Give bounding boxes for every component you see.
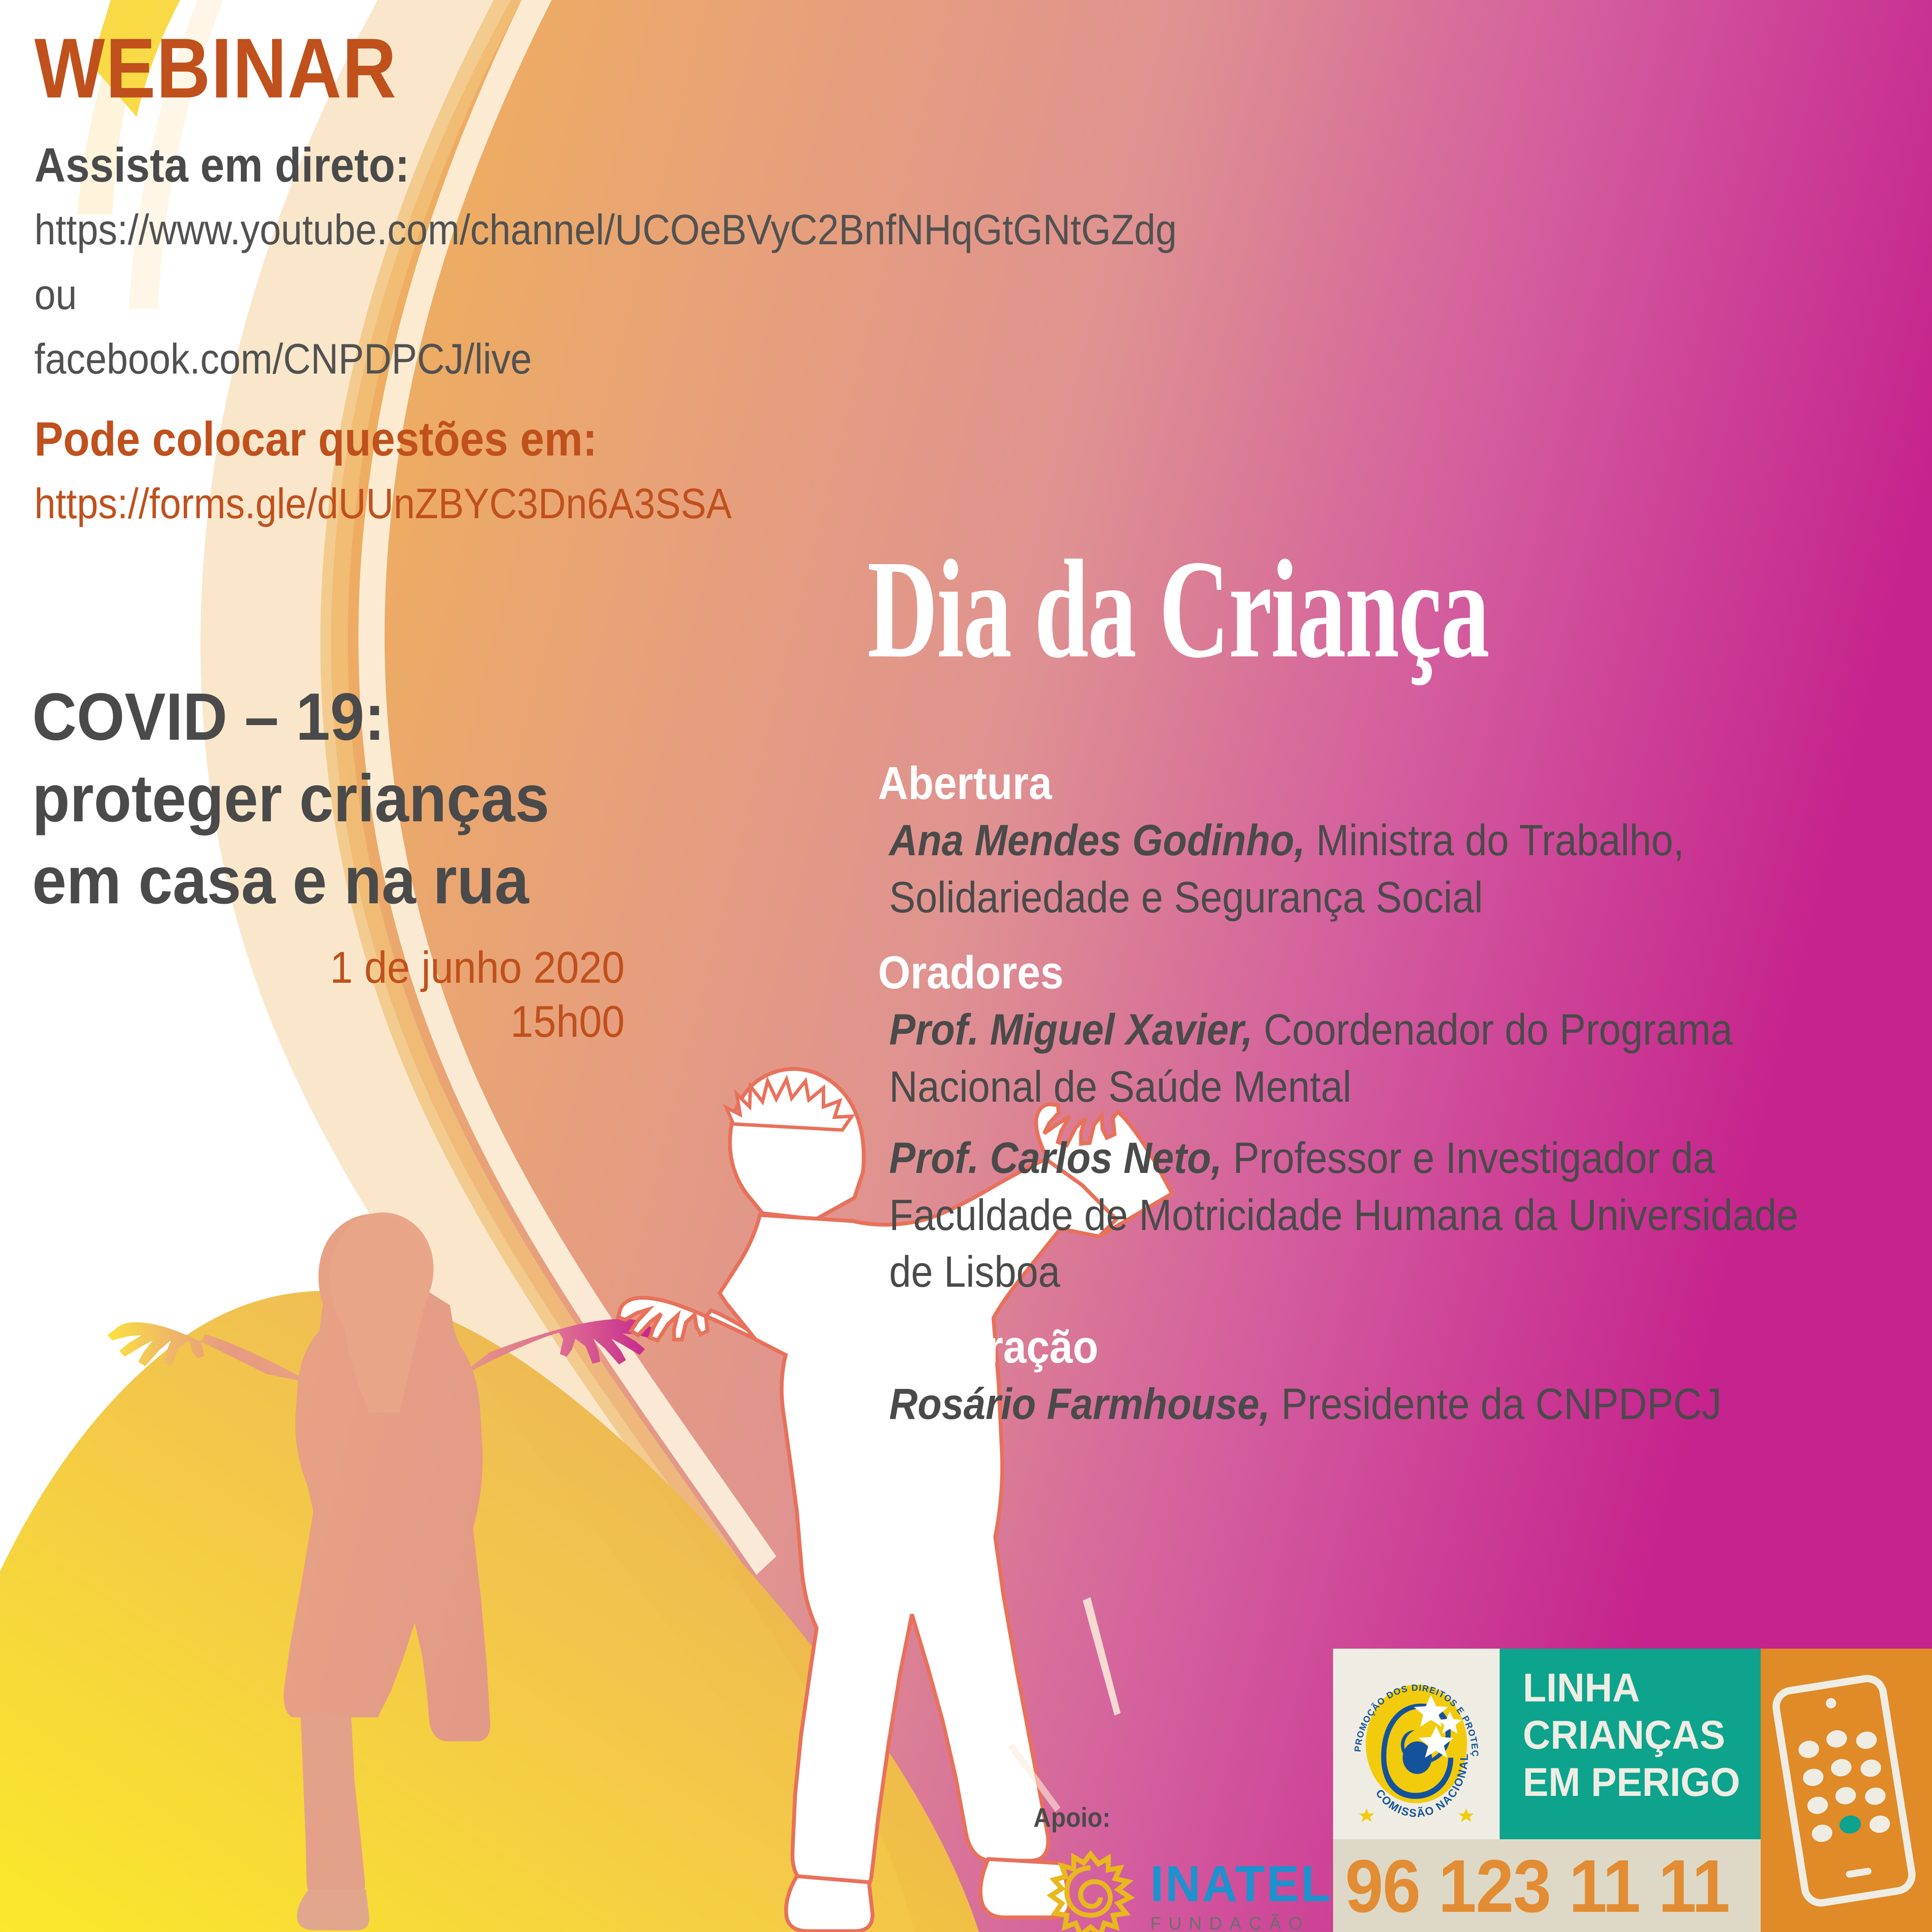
mobile-phone-icon [1761,1649,1932,1932]
program-entry-speaker-1: Prof. Miguel Xavier, Coordenador do Prog… [889,1001,1803,1115]
watch-live-label: Assista em direto: [34,137,1232,193]
apoio-label: Apoio: [1033,1802,1110,1833]
inatel-sun-icon [1041,1846,1140,1932]
header-text-column: WEBINAR Assista em direto: https://www.y… [34,26,1365,541]
speaker-name: Ana Mendes Godinho, [889,816,1305,865]
helpline-line-2: CRIANÇAS [1523,1715,1740,1755]
page-title: Dia da Criança [867,539,1488,680]
helpline-phone-number[interactable]: 96 123 11 11 [1345,1849,1729,1923]
event-title-block: COVID – 19: proteger crianças em casa e … [32,676,676,1049]
section-heading-abertura: Abertura [878,756,1801,810]
facebook-url[interactable]: facebook.com/CNPDPCJ/live [34,332,1232,386]
section-heading-moderacao: Moderação [878,1319,1801,1374]
cnpdpcj-logo-icon: PROMOÇÃO DOS DIREITOS E PROTEÇÃO DAS CRI… [1333,1649,1500,1839]
speaker-name: Prof. Miguel Xavier, [889,1005,1253,1054]
questions-label: Pode colocar questões em: [34,411,1232,467]
inatel-logo: INATEL FUNDAÇÃO [1041,1846,1340,1932]
helpline-logo-panel: PROMOÇÃO DOS DIREITOS E PROTEÇÃO DAS CRI… [1333,1649,1500,1839]
helpline-title: LINHA CRIANÇAS EM PERIGO [1523,1668,1740,1809]
event-date: 1 de junho 2020 [79,941,625,995]
poster-canvas: WEBINAR Assista em direto: https://www.y… [0,0,1932,1932]
moderator-role: Presidente da CNPDPCJ [1270,1379,1722,1428]
inatel-subtitle: FUNDAÇÃO [1150,1914,1340,1932]
program-list: Abertura Ana Mendes Godinho, Ministra do… [878,756,1904,1435]
youtube-url[interactable]: https://www.youtube.com/channel/UCOeBVyC… [34,203,1232,257]
helpline-line-3: EM PERIGO [1523,1762,1740,1802]
helpline-block: PROMOÇÃO DOS DIREITOS E PROTEÇÃO DAS CRI… [1333,1649,1932,1932]
helpline-line-1: LINHA [1523,1668,1740,1708]
program-entry-speaker-2: Prof. Carlos Neto, Professor e Investiga… [889,1130,1803,1300]
program-entry-opening: Ana Mendes Godinho, Ministra do Trabalho… [889,812,1803,926]
event-title-line-3: em casa e na rua [32,840,625,921]
inatel-wordmark: INATEL FUNDAÇÃO [1150,1859,1340,1932]
event-time: 15h00 [79,995,625,1049]
or-label: ou [34,267,1232,322]
speaker-name: Prof. Carlos Neto, [889,1133,1222,1182]
program-entry-moderator: Rosário Farmhouse, Presidente da CNPDPCJ [889,1376,1803,1433]
forms-url[interactable]: https://forms.gle/dUUnZBYC3Dn6A3SSA [34,477,1232,531]
event-datetime: 1 de junho 2020 15h00 [32,941,625,1049]
inatel-name: INATEL [1150,1859,1332,1909]
helpline-orange-panel [1761,1649,1932,1932]
webinar-heading: WEBINAR [34,26,1206,111]
event-title-line-2: proteger crianças [32,758,625,839]
event-title-line-1: COVID – 19: [32,676,625,758]
section-heading-oradores: Oradores [878,945,1801,999]
moderator-name: Rosário Farmhouse, [889,1379,1270,1428]
